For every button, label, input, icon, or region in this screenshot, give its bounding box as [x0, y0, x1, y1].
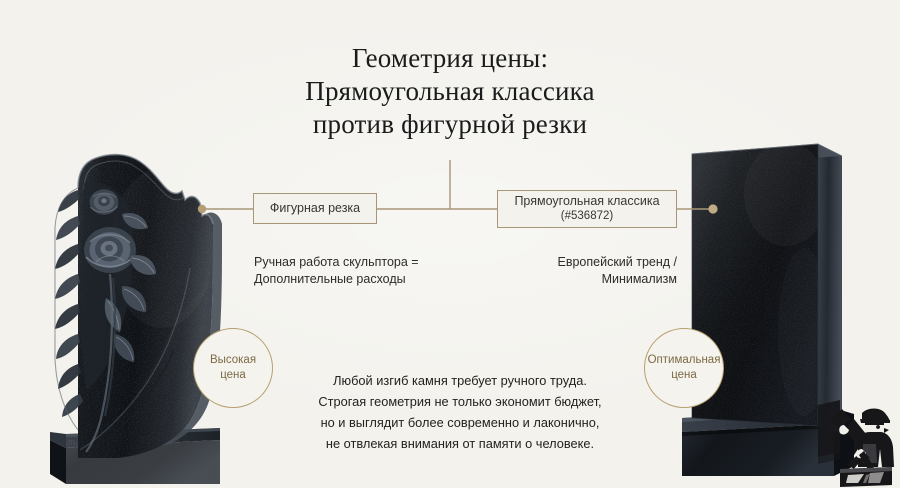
badge-optimal-price: Оптимальная цена — [644, 328, 724, 408]
label-classic-text: Прямоугольная классика — [514, 194, 659, 209]
slab-side-face — [818, 144, 842, 434]
label-figured-text: Фигурная резка — [270, 201, 360, 216]
caption-right: Европейский тренд / Минимализм — [470, 254, 677, 288]
title-line-2: Прямоугольная классика — [0, 75, 900, 108]
stonemason-logo — [818, 397, 896, 488]
figured-carved-monument — [44, 128, 230, 488]
label-figured-cutting[interactable]: Фигурная резка — [253, 193, 377, 224]
infographic-canvas: Геометрия цены: Прямоугольная классика п… — [0, 0, 900, 488]
title-line-1: Геометрия цены: — [0, 42, 900, 75]
title-line-3: против фигурной резки — [0, 108, 900, 141]
label-classic-code: (#536872) — [561, 209, 613, 224]
label-rectangular-classic[interactable]: Прямоугольная классика (#536872) — [497, 190, 677, 228]
body-paragraph: Любой изгиб камня требует ручного труда.… — [312, 370, 608, 454]
caption-left: Ручная работа скульптора = Дополнительны… — [254, 254, 464, 288]
page-title: Геометрия цены: Прямоугольная классика п… — [0, 42, 900, 141]
badge-high-price: Высокая цена — [193, 328, 273, 408]
